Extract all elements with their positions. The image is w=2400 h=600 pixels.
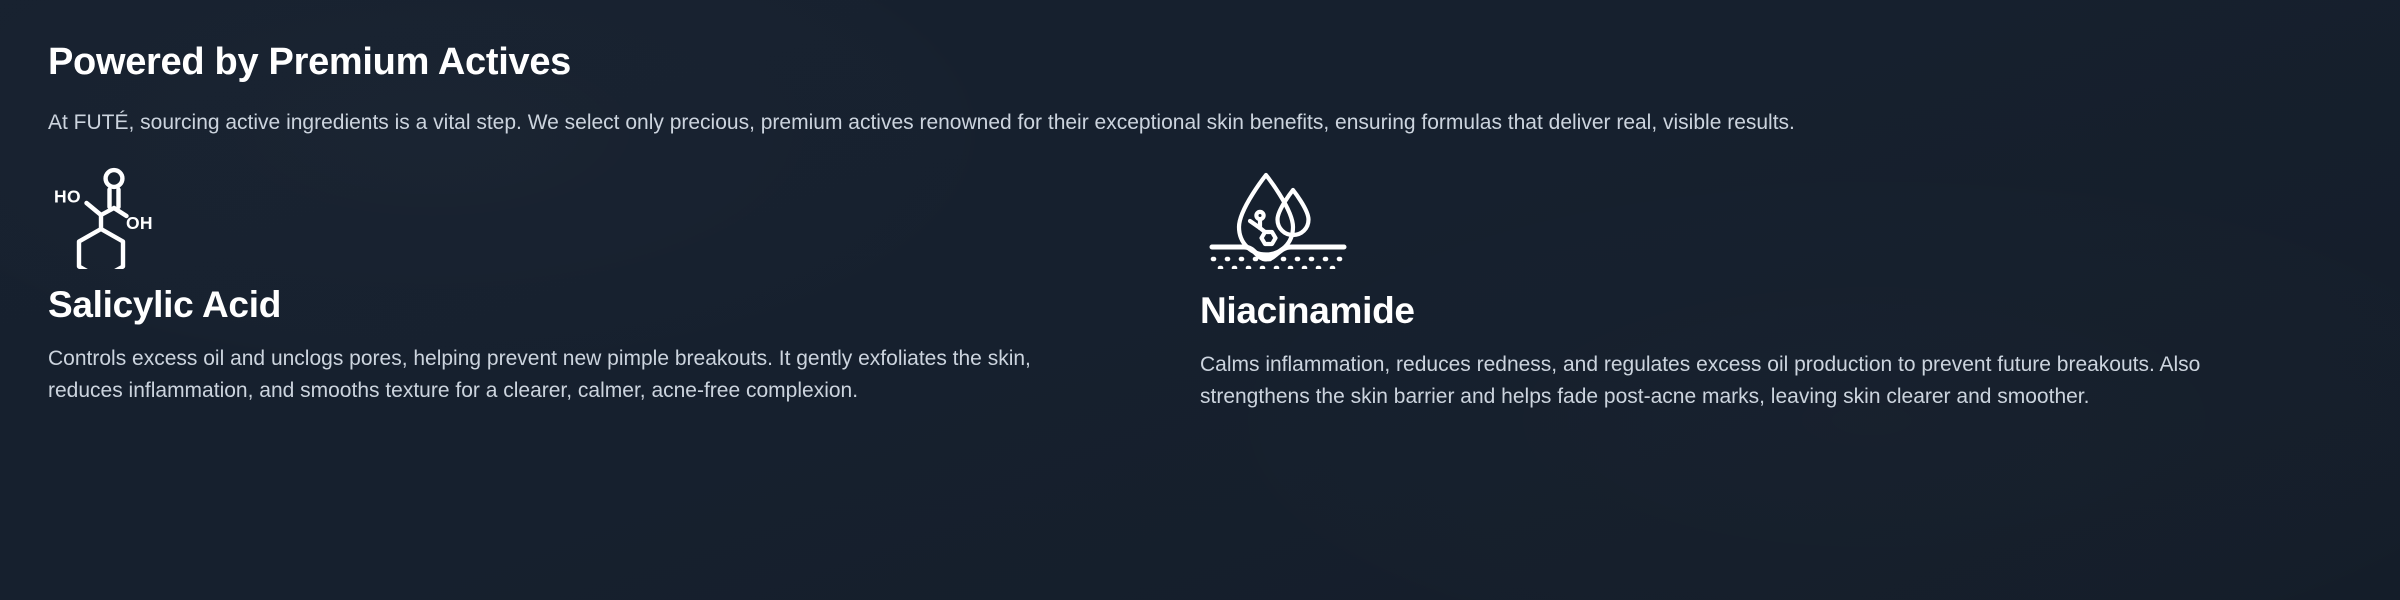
premium-actives-section: Powered by Premium Actives At FUTÉ, sour… — [0, 0, 2400, 600]
ingredient-card-salicylic-acid: HO OH Salicylic Acid Controls excess oi — [48, 167, 1200, 414]
droplet-absorbing-into-skin-icon — [1200, 167, 2400, 269]
ingredient-title: Salicylic Acid — [48, 285, 1200, 326]
svg-text:OH: OH — [126, 213, 153, 233]
ingredient-description: Calms inflammation, reduces redness, and… — [1200, 349, 2305, 413]
ingredient-card-grid: HO OH Salicylic Acid Controls excess oi — [48, 167, 2352, 414]
section-intro-paragraph: At FUTÉ, sourcing active ingredients is … — [48, 107, 2348, 139]
salicylic-acid-molecule-icon: HO OH — [48, 167, 1200, 269]
section-title: Powered by Premium Actives — [48, 40, 2352, 85]
ingredient-title: Niacinamide — [1200, 291, 2400, 332]
ingredient-card-niacinamide: Niacinamide Calms inflammation, reduces … — [1200, 167, 2400, 414]
ingredient-description: Controls excess oil and unclogs pores, h… — [48, 343, 1068, 407]
svg-text:HO: HO — [54, 186, 81, 206]
